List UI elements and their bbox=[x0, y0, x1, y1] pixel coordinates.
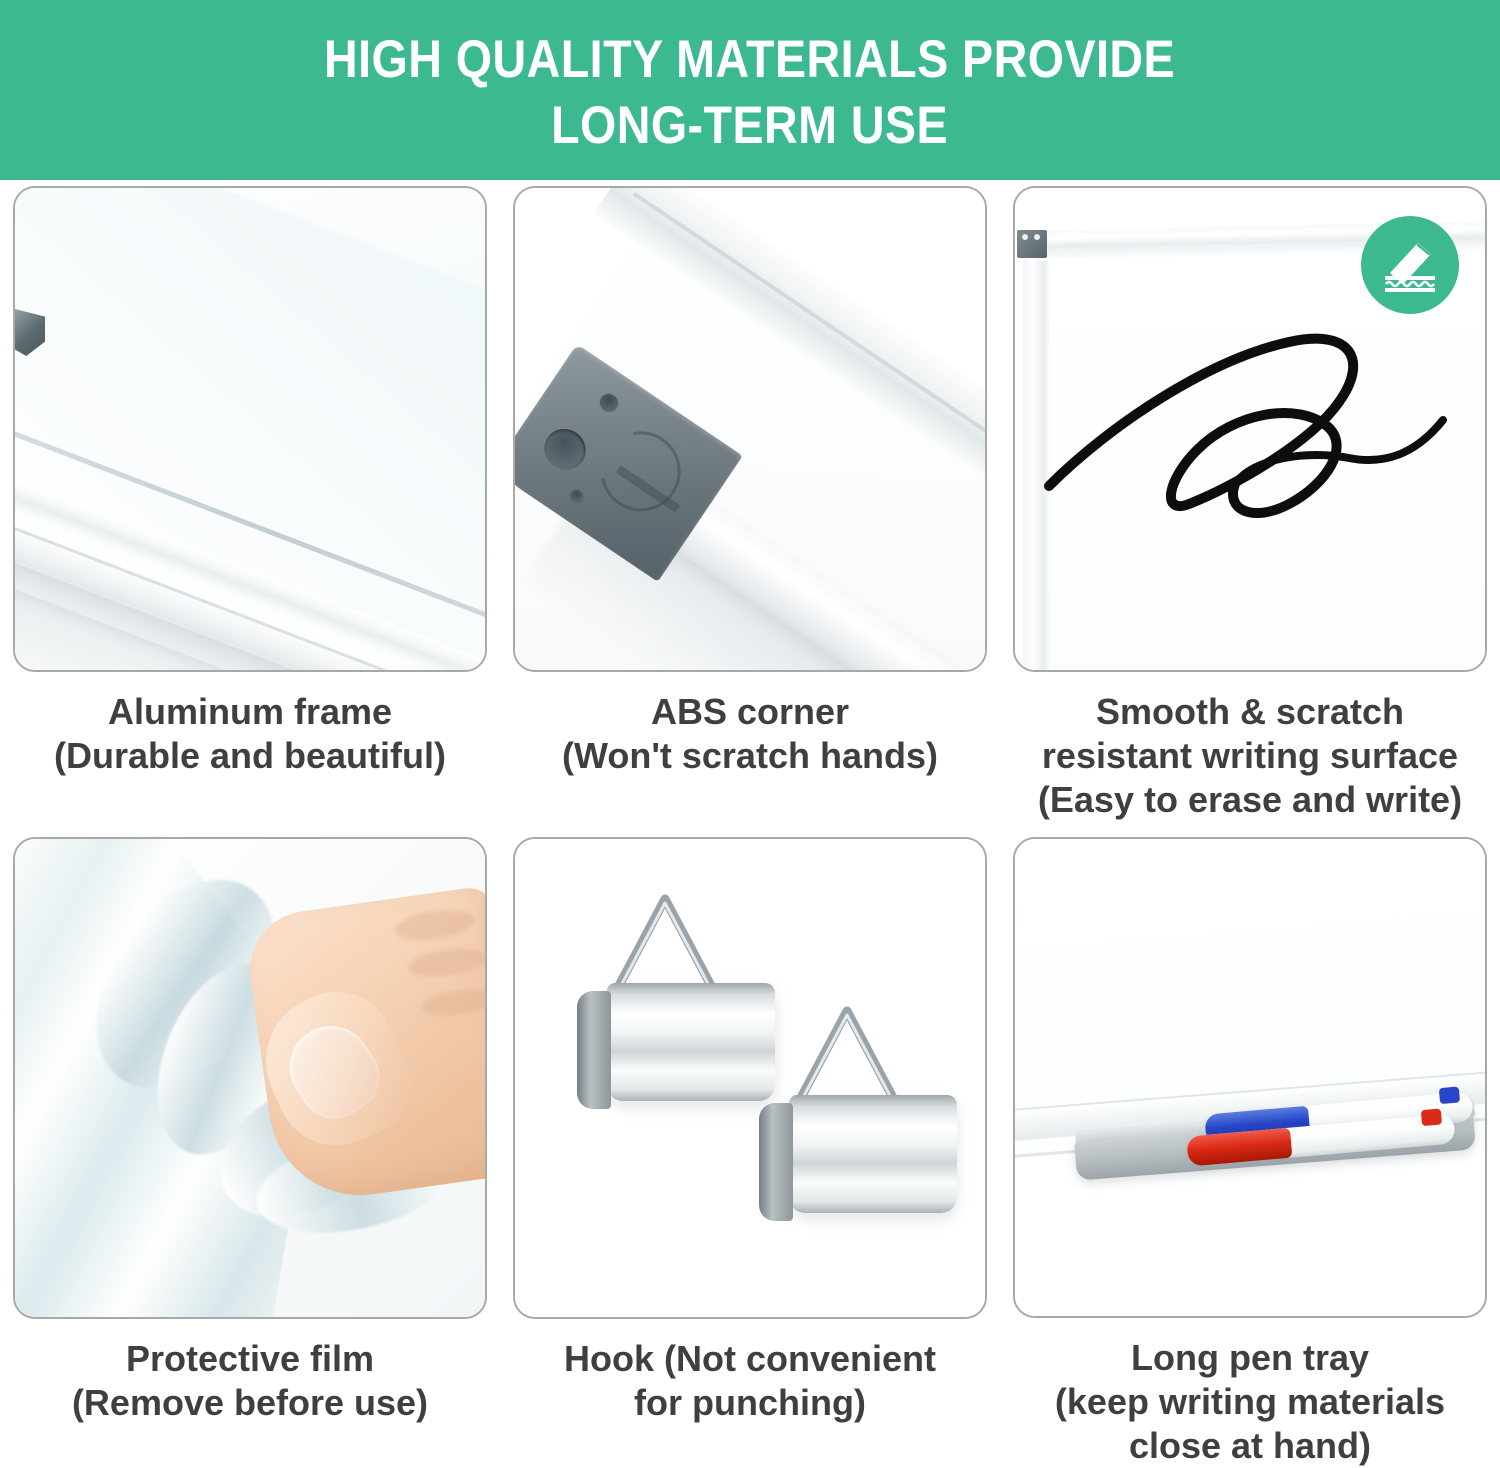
caption-abs-corner: ABS corner (Won't scratch hands) bbox=[503, 690, 997, 778]
header-title-line-1: HIGH QUALITY MATERIALS PROVIDE bbox=[324, 27, 1175, 93]
marker-clip-red bbox=[1421, 1108, 1442, 1126]
screw-hole-small-icon bbox=[596, 390, 622, 416]
caption-pen-tray: Long pen tray (keep writing materials cl… bbox=[1003, 1336, 1497, 1468]
caption-line: ABS corner bbox=[503, 690, 997, 734]
pen-writing-icon bbox=[1377, 232, 1443, 298]
knuckle-crease bbox=[407, 944, 487, 981]
hook-metal-body bbox=[607, 983, 775, 1101]
mount-hole-icon bbox=[1034, 234, 1040, 240]
knuckle-crease bbox=[393, 906, 476, 945]
feature-grid: Aluminum frame (Durable and beautiful) A… bbox=[0, 180, 1500, 1468]
corner-mount-tab bbox=[1017, 230, 1047, 258]
photo-aluminum-frame bbox=[13, 186, 487, 672]
caption-hook: Hook (Not convenient for punching) bbox=[503, 1337, 997, 1425]
caption-line: Aluminum frame bbox=[3, 690, 497, 734]
feature-card-hook: Hook (Not convenient for punching) bbox=[500, 831, 1000, 1468]
caption-line: (Won't scratch hands) bbox=[503, 734, 997, 778]
knuckle-crease bbox=[420, 986, 487, 1020]
feature-card-aluminum-frame: Aluminum frame (Durable and beautiful) bbox=[0, 180, 500, 831]
thumbnail bbox=[274, 1010, 393, 1132]
caption-line: close at hand) bbox=[1003, 1424, 1497, 1468]
header-banner: HIGH QUALITY MATERIALS PROVIDE LONG-TERM… bbox=[0, 0, 1500, 180]
caption-line: (Easy to erase and write) bbox=[1003, 778, 1497, 822]
photo-protective-film bbox=[13, 837, 487, 1319]
screw-hole-tiny-icon bbox=[567, 487, 586, 506]
screw-hole-large-icon bbox=[536, 421, 593, 478]
header-title-line-2: LONG-TERM USE bbox=[552, 93, 949, 159]
photo-hook bbox=[513, 837, 987, 1319]
hook-metal-body bbox=[789, 1095, 957, 1213]
feature-card-protective-film: Protective film (Remove before use) bbox=[0, 831, 500, 1468]
caption-protective-film: Protective film (Remove before use) bbox=[3, 1337, 497, 1425]
feature-card-writing-surface: Smooth & scratch resistant writing surfa… bbox=[1000, 180, 1500, 831]
caption-aluminum-frame: Aluminum frame (Durable and beautiful) bbox=[3, 690, 497, 778]
caption-writing-surface: Smooth & scratch resistant writing surfa… bbox=[1003, 690, 1497, 822]
caption-line: Protective film bbox=[3, 1337, 497, 1381]
caption-line: (keep writing materials bbox=[1003, 1380, 1497, 1424]
feature-card-abs-corner: ABS corner (Won't scratch hands) bbox=[500, 180, 1000, 831]
caption-line: resistant writing surface bbox=[1003, 734, 1497, 778]
corner-arc-detail bbox=[585, 416, 696, 527]
caption-line: Smooth & scratch bbox=[1003, 690, 1497, 734]
caption-line: (Remove before use) bbox=[3, 1381, 497, 1425]
caption-line: for punching) bbox=[503, 1381, 997, 1425]
hook-end-cap bbox=[759, 1103, 793, 1221]
caption-line: Long pen tray bbox=[1003, 1336, 1497, 1380]
hook-end-cap bbox=[577, 991, 611, 1109]
photo-writing-surface bbox=[1013, 186, 1487, 672]
mount-hole-icon bbox=[1022, 234, 1028, 240]
marker-clip-blue bbox=[1439, 1086, 1460, 1104]
marker-signature-scribble bbox=[1039, 298, 1459, 628]
photo-pen-tray bbox=[1013, 837, 1487, 1318]
photo-abs-corner bbox=[513, 186, 987, 672]
caption-line: (Durable and beautiful) bbox=[3, 734, 497, 778]
feature-card-pen-tray: Long pen tray (keep writing materials cl… bbox=[1000, 831, 1500, 1468]
caption-line: Hook (Not convenient bbox=[503, 1337, 997, 1381]
